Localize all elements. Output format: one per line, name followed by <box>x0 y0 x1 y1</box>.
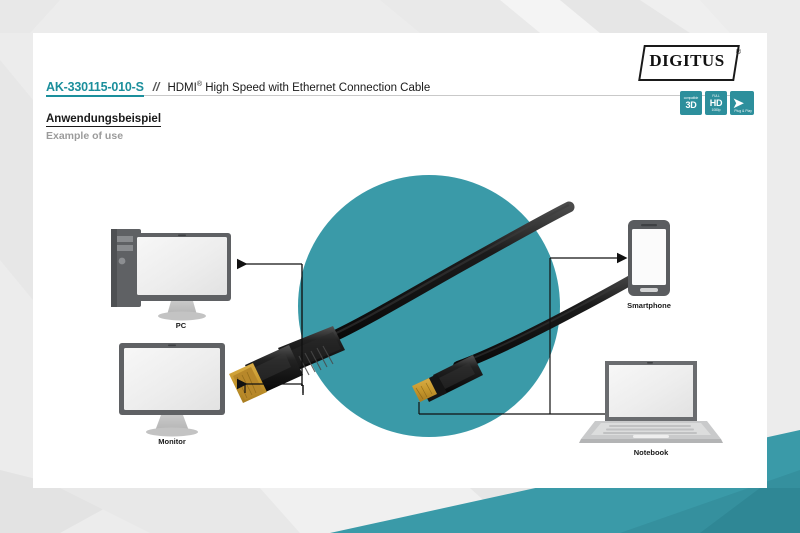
monitor-icon <box>119 343 225 437</box>
notebook-icon <box>579 361 723 443</box>
full-hd-badge-resolution: 1080p <box>712 108 721 113</box>
pc-label: PC <box>121 321 241 330</box>
monitor-label: Monitor <box>112 437 232 446</box>
product-sku: AK-330115-010-S <box>46 80 144 97</box>
full-hd-badge: FULL HD 1080p <box>705 91 727 115</box>
header-separator: // <box>153 80 160 94</box>
product-sheet-page: DIGITUS ® AK-330115-010-S // HDMI® High … <box>0 0 800 533</box>
plug-and-play-badge: ➤ Plug & Play <box>730 91 754 115</box>
section-heading: Anwendungsbeispiel Example of use <box>46 109 161 142</box>
smartphone-icon <box>628 220 670 296</box>
plug-and-play-label: Plug & Play <box>734 109 752 113</box>
product-title-rest: High Speed with Ethernet Connection Cabl… <box>202 82 430 94</box>
3d-badge: compatible 3D <box>680 91 702 115</box>
product-header: AK-330115-010-S // HDMI® High Speed with… <box>46 71 754 96</box>
section-title-en: Example of use <box>46 130 161 142</box>
3d-badge-label: 3D <box>686 100 697 110</box>
3d-badge-top: compatible <box>684 96 698 100</box>
notebook-label: Notebook <box>591 448 711 457</box>
product-title: HDMI® High Speed with Ethernet Connectio… <box>167 81 430 94</box>
smartphone-label: Smartphone <box>589 301 709 310</box>
pc-icon <box>111 229 231 321</box>
application-diagram: PC Monitor Smartphone Notebook <box>33 143 767 488</box>
feature-badges: compatible 3D FULL HD 1080p ➤ Plug & Pla… <box>680 91 754 115</box>
full-hd-badge-top: FULL <box>712 94 719 98</box>
content-card: DIGITUS ® AK-330115-010-S // HDMI® High … <box>33 33 767 488</box>
full-hd-badge-label: HD <box>710 98 722 108</box>
product-title-brand: HDMI <box>167 82 196 94</box>
logo-registered-mark: ® <box>736 49 741 56</box>
section-title-de: Anwendungsbeispiel <box>46 113 161 127</box>
